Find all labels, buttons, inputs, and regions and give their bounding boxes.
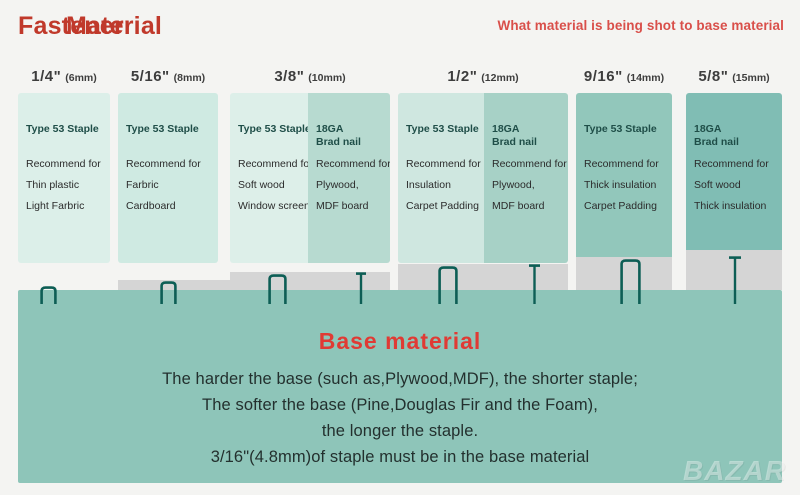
fastener-card-panel: 18GABrad nailRecommend forPlywood,MDF bo… — [308, 93, 390, 263]
recommend-material: Plywood, — [492, 175, 568, 196]
fastener-card[interactable]: Type 53 StapleRecommend forInsulationCar… — [398, 93, 568, 263]
staple-graphic — [160, 281, 177, 304]
size-label: 9/16"(14mm) — [584, 68, 664, 86]
fastener-diagram — [0, 263, 800, 311]
recommend-material: Light Farbric — [26, 196, 110, 217]
base-material-line: The harder the base (such as,Plywood,MDF… — [0, 366, 800, 392]
staple-graphic — [40, 286, 57, 304]
size-label: 5/16"(8mm) — [131, 68, 205, 86]
fastener-type-heading: 18GABrad nail — [316, 123, 390, 148]
fastener-card-panel: Type 53 StapleRecommend forFarbricCardbo… — [118, 93, 218, 263]
recommend-label: Recommend for — [126, 154, 218, 175]
fastener-type-heading: 18GABrad nail — [694, 123, 782, 148]
fastener-card[interactable]: Type 53 StapleRecommend forSoft woodWind… — [230, 93, 390, 263]
fastener-type-heading: Type 53 Staple — [26, 123, 110, 136]
size-fraction: 5/16" — [131, 68, 170, 85]
size-label: 1/2"(12mm) — [447, 68, 518, 86]
fastener-type-line: Type 53 Staple — [126, 123, 218, 136]
nail-graphic — [528, 264, 541, 304]
fastener-type-line: Type 53 Staple — [584, 123, 672, 136]
fastener-card-panel: Type 53 StapleRecommend forThin plasticL… — [18, 93, 110, 263]
size-millimeters: (14mm) — [627, 72, 664, 84]
page-title: Fastener Material — [18, 12, 348, 46]
recommend-material: MDF board — [316, 196, 390, 217]
fastener-cards: Type 53 StapleRecommend forThin plasticL… — [0, 93, 800, 263]
size-label: 5/8"(15mm) — [698, 68, 769, 86]
recommend-material: MDF board — [492, 196, 568, 217]
size-fraction: 1/2" — [447, 68, 477, 85]
fastener-type-heading: Type 53 Staple — [406, 123, 484, 136]
recommend-material: Carpet Padding — [406, 196, 484, 217]
size-fraction: 1/4" — [31, 68, 61, 85]
fastener-type-heading: Type 53 Staple — [584, 123, 672, 136]
base-material-line: the longer the staple. — [0, 418, 800, 444]
recommend-material: Thick insulation — [584, 175, 672, 196]
fastener-card-panel: 18GABrad nailRecommend forSoft woodThick… — [686, 93, 782, 263]
base-material-lines: The harder the base (such as,Plywood,MDF… — [0, 366, 800, 470]
fastener-card-panel: Type 53 StapleRecommend forInsulationCar… — [398, 93, 484, 263]
base-material-title: Base material — [0, 328, 800, 355]
recommend-label: Recommend for — [26, 154, 110, 175]
recommend-label: Recommend for — [316, 154, 390, 175]
size-millimeters: (10mm) — [308, 72, 345, 84]
bazar-watermark: BAZAR — [683, 455, 786, 487]
size-header-row: 1/4"(6mm)5/16"(8mm)3/8"(10mm)1/2"(12mm)9… — [0, 68, 800, 90]
recommend-material: Plywood, — [316, 175, 390, 196]
fastener-type-line: Brad nail — [694, 136, 782, 149]
base-material-line: 3/16"(4.8mm)of staple must be in the bas… — [0, 444, 800, 470]
recommend-material: Thick insulation — [694, 196, 782, 217]
fastener-type-line: 18GA — [492, 123, 568, 136]
size-label: 3/8"(10mm) — [274, 68, 345, 86]
staple-graphic — [620, 259, 641, 304]
recommend-material: Thin plastic — [26, 175, 110, 196]
fastener-type-heading: 18GABrad nail — [492, 123, 568, 148]
page-title-material: Material — [66, 12, 162, 41]
size-label: 1/4"(6mm) — [31, 68, 96, 86]
infographic-page: Fastener Material What material is being… — [0, 0, 800, 495]
base-material-block — [398, 264, 568, 290]
fastener-card[interactable]: Type 53 StapleRecommend forThin plasticL… — [18, 93, 110, 263]
recommend-label: Recommend for — [584, 154, 672, 175]
recommend-material: Window screen — [238, 196, 308, 217]
size-fraction: 9/16" — [584, 68, 623, 85]
nail-graphic — [355, 272, 367, 304]
recommend-material: Carpet Padding — [584, 196, 672, 217]
fastener-type-line: Type 53 Staple — [238, 123, 308, 136]
fastener-type-line: Type 53 Staple — [26, 123, 110, 136]
nail-graphic — [728, 256, 742, 304]
recommend-material: Soft wood — [694, 175, 782, 196]
fastener-card[interactable]: 18GABrad nailRecommend forSoft woodThick… — [686, 93, 782, 263]
fastener-type-line: 18GA — [316, 123, 390, 136]
recommend-label: Recommend for — [406, 154, 484, 175]
recommend-material: Insulation — [406, 175, 484, 196]
size-millimeters: (12mm) — [481, 72, 518, 84]
recommend-material: Cardboard — [126, 196, 218, 217]
size-fraction: 3/8" — [274, 68, 304, 85]
staple-graphic — [438, 266, 458, 304]
recommend-label: Recommend for — [694, 154, 782, 175]
fastener-type-heading: Type 53 Staple — [126, 123, 218, 136]
base-material-line: The softer the base (Pine,Douglas Fir an… — [0, 392, 800, 418]
recommend-label: Recommend for — [238, 154, 308, 175]
size-millimeters: (8mm) — [174, 72, 206, 84]
recommend-material: Soft wood — [238, 175, 308, 196]
fastener-type-line: Brad nail — [316, 136, 390, 149]
size-millimeters: (6mm) — [65, 72, 97, 84]
fastener-card[interactable]: Type 53 StapleRecommend forThick insulat… — [576, 93, 672, 263]
fastener-card[interactable]: Type 53 StapleRecommend forFarbricCardbo… — [118, 93, 218, 263]
fastener-card-panel: Type 53 StapleRecommend forSoft woodWind… — [230, 93, 308, 263]
fastener-card-panel: Type 53 StapleRecommend forThick insulat… — [576, 93, 672, 263]
page-subtitle: What material is being shot to base mate… — [498, 18, 784, 33]
fastener-type-line: 18GA — [694, 123, 782, 136]
recommend-material: Farbric — [126, 175, 218, 196]
fastener-type-heading: Type 53 Staple — [238, 123, 308, 136]
fastener-type-line: Brad nail — [492, 136, 568, 149]
size-millimeters: (15mm) — [732, 72, 769, 84]
fastener-type-line: Type 53 Staple — [406, 123, 484, 136]
recommend-label: Recommend for — [492, 154, 568, 175]
staple-graphic — [268, 274, 287, 304]
size-fraction: 5/8" — [698, 68, 728, 85]
fastener-card-panel: 18GABrad nailRecommend forPlywood,MDF bo… — [484, 93, 568, 263]
